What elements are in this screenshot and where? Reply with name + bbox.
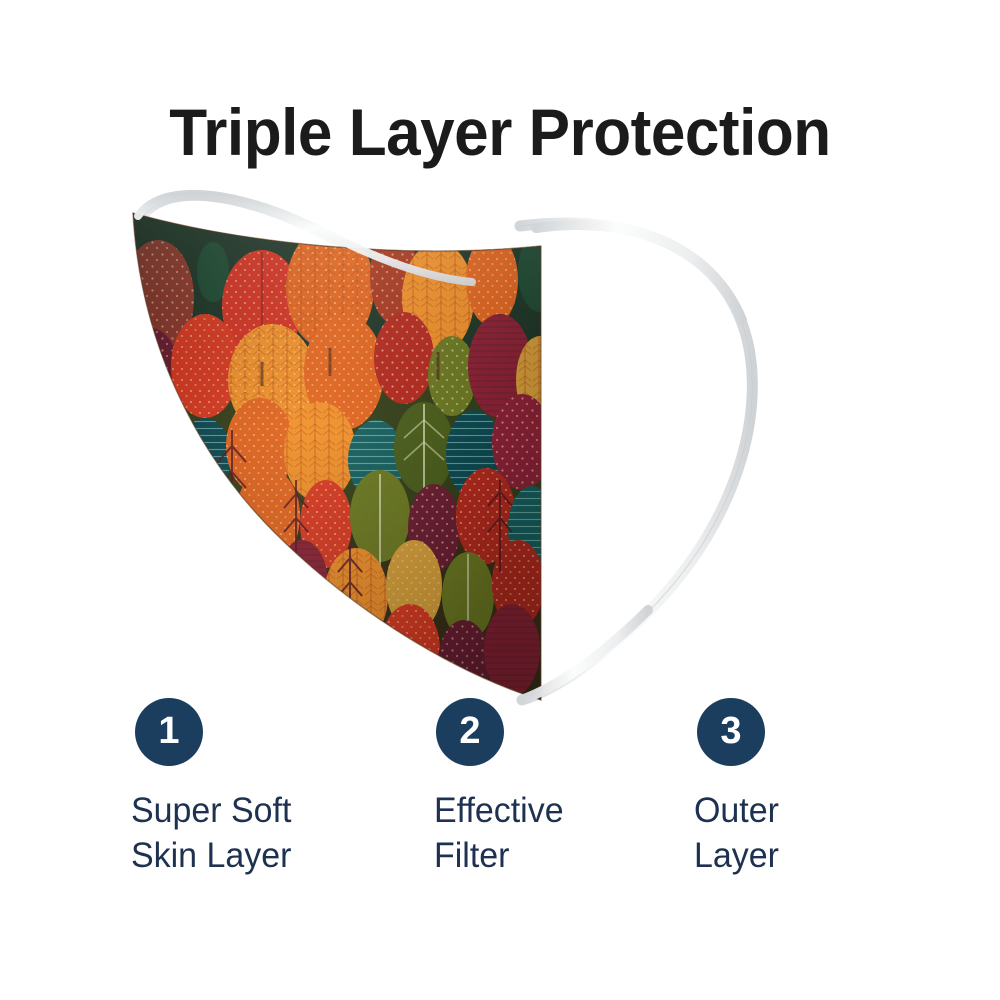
feature-item-2: 2 Effective Filter [434,698,568,878]
ear-loop-right [520,223,752,700]
feature-item-3: 3 Outer Layer [694,698,782,878]
feature-item-1: 1 Super Soft Skin Layer [131,698,296,878]
feature-label-3: Outer Layer [694,788,779,878]
face-mask-illustration [0,180,1000,710]
feature-badge-3: 3 [697,698,765,766]
product-image [0,180,1000,710]
mask-body [120,190,564,720]
ear-loop-right-front [524,225,742,699]
feature-label-1: Super Soft Skin Layer [131,788,291,878]
feature-badge-2: 2 [436,698,504,766]
feature-label-2: Effective Filter [434,788,564,878]
feature-list: 1 Super Soft Skin Layer 2 Effective Filt… [0,698,1000,898]
page-title: Triple Layer Protection [30,96,970,168]
feature-badge-1: 1 [135,698,203,766]
